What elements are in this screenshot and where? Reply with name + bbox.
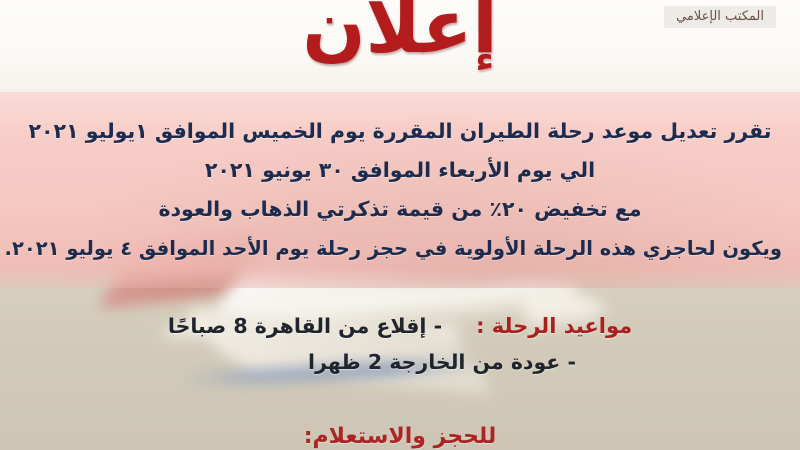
body-line-3: مع تخفيض ٢٠٪ من قيمة تذكرتي الذهاب والعو… [0,190,800,229]
body-line-4: ويكون لحاجزي هذه الرحلة الأولوية في حجز … [0,229,800,268]
schedule-heading: مواعيد الرحلة : [476,314,632,338]
schedule-item-return: - عودة من الخارجة 2 ظهرا [308,350,576,374]
body-line-1: تقرر تعديل موعد رحلة الطيران المقررة يوم… [0,112,800,151]
schedule-row-departure: مواعيد الرحلة : - إقلاع من القاهرة 8 صبا… [0,314,800,338]
announcement-poster: إعلان المكتب الإعلامي تقرر تعديل موعد رح… [0,0,800,450]
body-line-2: الي يوم الأربعاء الموافق ٣٠ يونيو ٢٠٢١ [0,151,800,190]
announcement-body: تقرر تعديل موعد رحلة الطيران المقررة يوم… [0,112,800,268]
booking-contact-heading: للحجز والاستعلام: [0,424,800,450]
poster-header: إعلان المكتب الإعلامي [0,0,800,92]
flight-schedule: مواعيد الرحلة : - إقلاع من القاهرة 8 صبا… [0,314,800,386]
schedule-row-return: - عودة من الخارجة 2 ظهرا [0,350,800,374]
schedule-item-departure: - إقلاع من القاهرة 8 صباحًا [168,314,442,338]
media-office-badge: المكتب الإعلامي [664,6,776,28]
